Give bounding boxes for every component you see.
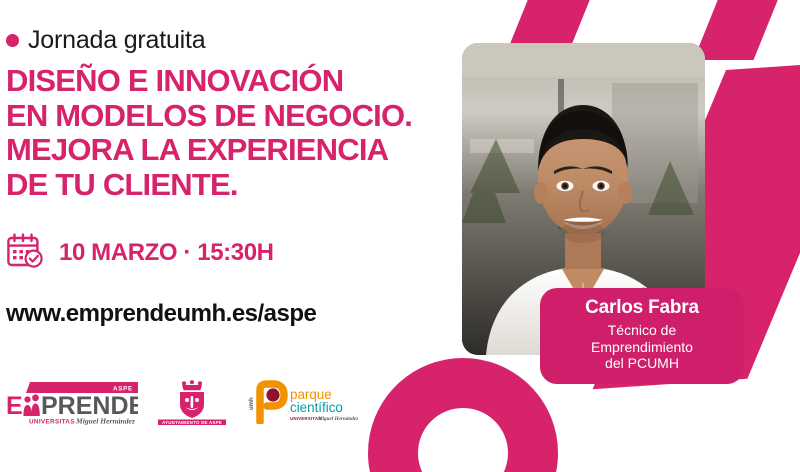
speaker-card: Carlos Fabra Técnico de Emprendimiento d… [540, 288, 744, 384]
parque-line-2: científico [290, 400, 343, 415]
speaker-name: Carlos Fabra [585, 298, 699, 319]
content-column: Jornada gratuita DISEÑO E INNOVACIÓN EN … [6, 26, 446, 328]
event-date-row: 10 MARZO · 15:30H [6, 232, 446, 275]
parque-p-mark-icon [260, 384, 284, 422]
logo-ayuntamiento-de-aspe: AYUNTAMIENTO DE ASPE [156, 378, 228, 426]
logo-emprende-umh: ASPE E PRENDE UNIVERSITAS Miguel Hernánd… [6, 378, 138, 426]
kicker: Jornada gratuita [6, 26, 446, 55]
headline-line-2: EN MODELOS DE NEGOCIO. [6, 99, 446, 134]
parque-umh-text: umh [249, 397, 255, 410]
headline-line-3: MEJORA LA EXPERIENCIA [6, 133, 446, 168]
emprende-tagline-bold: UNIVERSITAS [29, 418, 75, 425]
calendar-check-icon [6, 232, 46, 275]
emprende-tagline-italic: Miguel Hernández [75, 417, 135, 426]
logo-row: ASPE E PRENDE UNIVERSITAS Miguel Hernánd… [6, 378, 358, 426]
decorative-arch-shape [368, 358, 558, 472]
page-title: DISEÑO E INNOVACIÓN EN MODELOS DE NEGOCI… [6, 64, 446, 203]
logo-parque-cientifico: umh parque científico UNIVERSITAS Miguel… [246, 380, 358, 424]
event-datetime: 10 MARZO · 15:30H [59, 239, 274, 267]
headline-line-4: DE TU CLIENTE. [6, 168, 446, 203]
decorative-band-top-right [694, 0, 800, 60]
bullet-dot-icon [6, 34, 19, 47]
speaker-role-line-3: del PCUMH [605, 355, 679, 371]
kicker-label: Jornada gratuita [28, 26, 205, 55]
event-banner: Jornada gratuita DISEÑO E INNOVACIÓN EN … [0, 0, 800, 472]
emprende-people-icon [23, 394, 39, 416]
ayuntamiento-label: AYUNTAMIENTO DE ASPE [162, 420, 222, 425]
parque-tagline-italic: Miguel Hernández [317, 416, 358, 422]
emprende-wordmark-e: E [6, 392, 23, 420]
parque-tagline-bold: UNIVERSITAS [290, 416, 321, 421]
speaker-role-line-1: Técnico de [608, 322, 676, 338]
website-url[interactable]: www.emprendeumh.es/aspe [6, 300, 446, 328]
speaker-role-line-2: Emprendimiento [591, 339, 693, 355]
headline-line-1: DISEÑO E INNOVACIÓN [6, 64, 446, 99]
